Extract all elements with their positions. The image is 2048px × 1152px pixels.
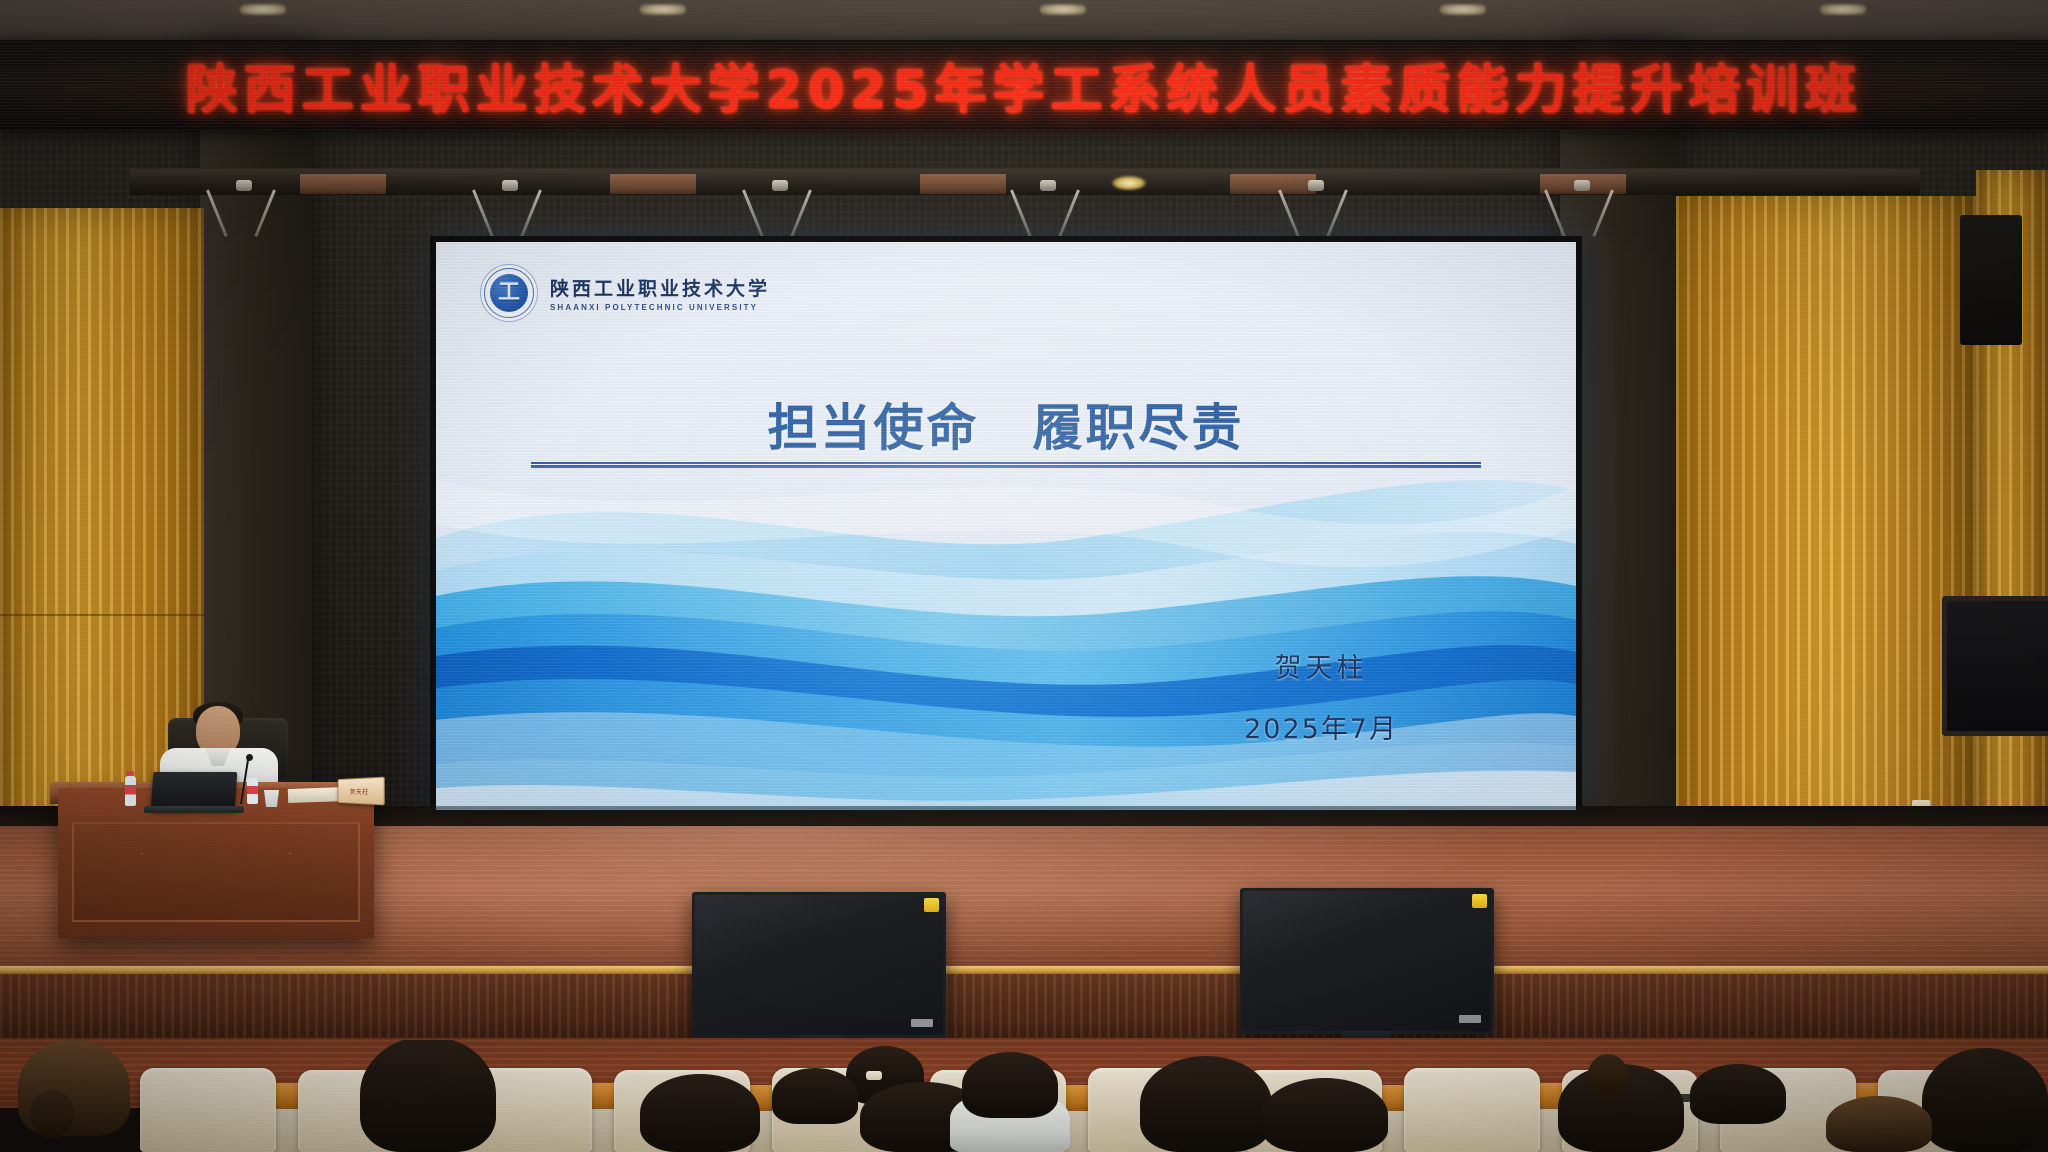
audience-person [962,1052,1058,1118]
audience-person [772,1068,858,1124]
water-bottle [125,776,136,806]
audience-person [1690,1064,1786,1124]
stage-spotlight [502,180,518,191]
truss-wood-block [920,174,1006,194]
podium-nameplate: 贺天柱 [338,777,385,806]
projection-screen-frame: 工 陕西工业职业技术大学 SHAANXI POLYTECHNIC UNIVERS… [430,236,1582,816]
stage-spotlight [1308,180,1324,191]
university-emblem-icon: 工 [480,264,538,322]
seat-frame [1397,1063,1547,1089]
wall-panel-right-slats [1676,196,1976,856]
stage-monitor-right [1240,888,1494,1034]
ceiling-light [240,4,286,15]
audience-person [640,1074,760,1152]
truss-wood-block [610,174,696,194]
truss-bracket [196,190,286,234]
podium-front-panel [72,822,360,922]
wave-svg [436,420,1576,810]
monitor-sticker-icon [1472,894,1487,908]
stage-spotlight [236,180,252,191]
auditorium-photo: 陕西工业职业技术大学2025年学工系统人员素质能力提升培训班 [0,0,2048,1152]
laptop-screen [151,772,238,810]
truss-bracket [462,190,552,234]
projection-screen[interactable]: 工 陕西工业职业技术大学 SHAANXI POLYTECHNIC UNIVERS… [436,242,1576,810]
monitor-sticker-icon [924,898,939,912]
audience-person [1140,1056,1272,1152]
truss-bracket [1534,190,1624,234]
paper-cup [264,790,279,807]
wall-display-right [1942,596,2048,736]
audience-area [0,1040,2048,1152]
ceiling-light [1040,4,1086,15]
seat [1404,1068,1540,1152]
wall-panel-right [1676,196,1976,856]
laptop-base [144,806,244,813]
audience-person [360,1040,496,1152]
seat [140,1068,276,1152]
stage-monitor-left-screen [695,895,943,1035]
slide-title: 担当使命 履职尽责 [436,388,1576,460]
monitor-brand-badge [911,1019,933,1027]
audience-hair-bun [1588,1054,1628,1096]
stage-spotlight [772,180,788,191]
slide-presenter-block: 贺天柱 2025年7月 [1244,646,1398,746]
stage-monitor-left [692,892,946,1038]
stage-spotlight [1040,180,1056,191]
hair-clip [866,1071,882,1080]
slide-university-logo: 工 陕西工业职业技术大学 SHAANXI POLYTECHNIC UNIVERS… [480,264,770,322]
audience-person [1262,1078,1388,1152]
wall-panel-seam [0,614,204,616]
logo-wordmark: 陕西工业职业技术大学 SHAANXI POLYTECHNIC UNIVERSIT… [550,274,770,312]
logo-english-name: SHAANXI POLYTECHNIC UNIVERSITY [550,303,770,312]
microphone-head [246,754,253,761]
audience-hair-bun [30,1090,74,1138]
truss-bracket [732,190,822,234]
wall-speaker [1960,215,2022,345]
slide-date: 2025年7月 [1244,707,1398,746]
led-banner: 陕西工业职业技术大学2025年学工系统人员素质能力提升培训班 [0,40,2048,130]
water-bottle [247,778,258,804]
led-banner-text: 陕西工业职业技术大学2025年学工系统人员素质能力提升培训班 [186,48,1863,123]
stage-front-texture [0,974,2048,1044]
truss-bracket [1000,190,1090,234]
slide-presenter-name: 贺天柱 [1244,646,1398,685]
truss-wood-block [300,174,386,194]
logo-chinese-name: 陕西工业职业技术大学 [550,274,770,301]
stage-spotlight [1574,180,1590,191]
truss-bracket [1268,190,1358,234]
audience-person [1922,1048,2048,1152]
monitor-brand-badge [1459,1015,1481,1023]
truss-lamp-glow [1112,176,1146,190]
ceiling-light [1820,4,1866,15]
seat-frame [133,1063,283,1089]
slide-wave-graphic [436,420,1576,810]
emblem-glyph: 工 [498,282,520,304]
podium-chevron-inlay [141,852,291,880]
slide-title-divider [531,462,1481,468]
audience-person [1826,1096,1932,1152]
stage-monitor-right-screen [1243,891,1491,1031]
ceiling-light [640,4,686,15]
water-bottle-cap [126,771,134,776]
ceiling-light [1440,4,1486,15]
